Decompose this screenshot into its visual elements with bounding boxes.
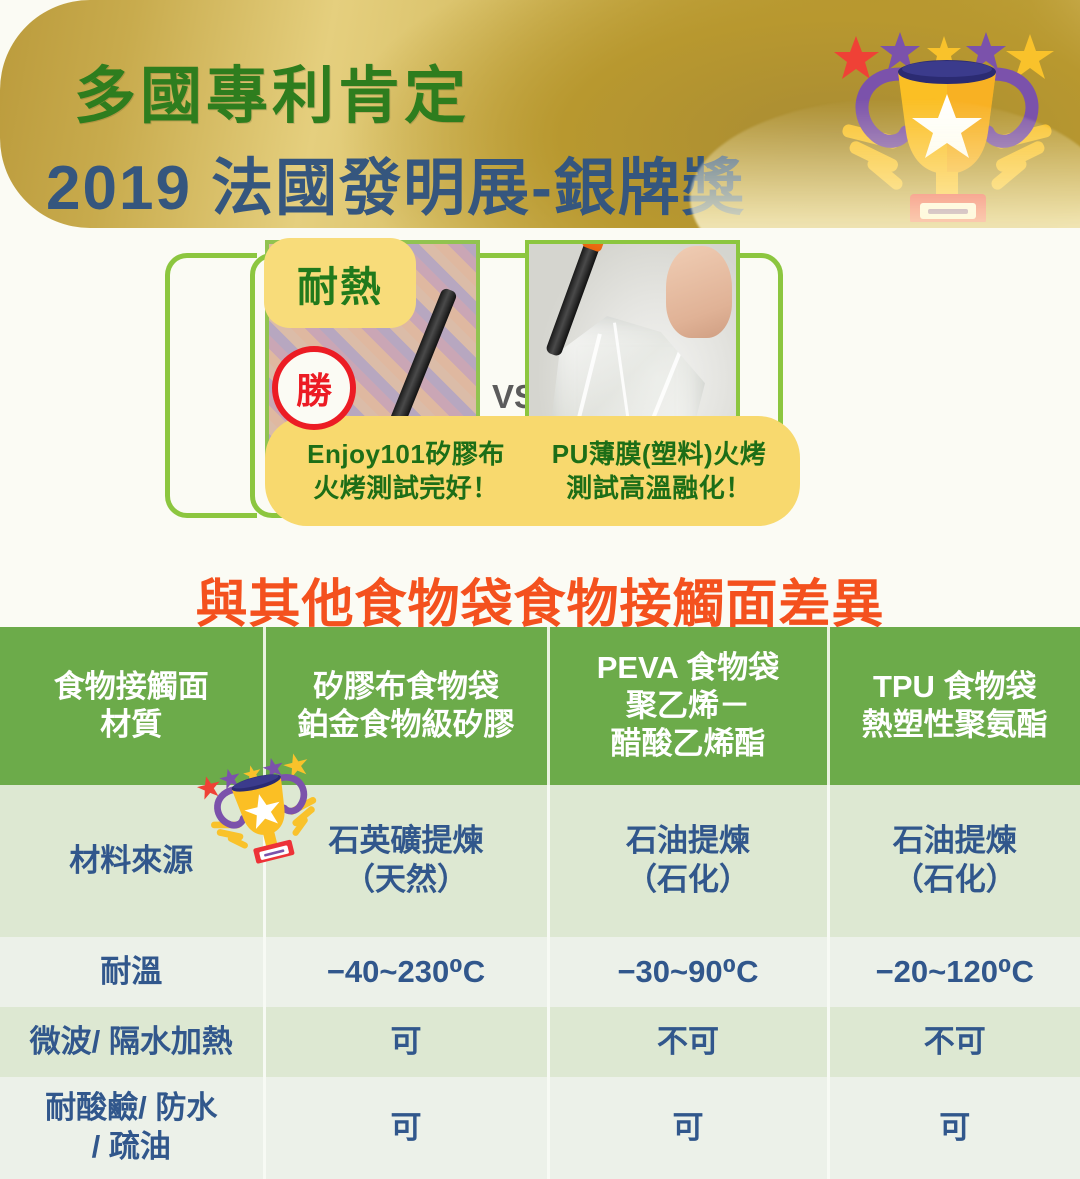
row-cell: −30~90⁰C [548, 937, 828, 1007]
section-title: 與其他食物袋食物接觸面差異 [0, 562, 1080, 637]
trophy-icon [834, 22, 1062, 222]
cell-line: −40~230⁰C [268, 953, 545, 992]
caption-right: PU薄膜(塑料)火烤 測試高溫融化！ [537, 437, 782, 506]
cell-line: 不可 [832, 1023, 1079, 1062]
table-row: 耐酸鹼/ 防水 / 疏油 可 可 可 [0, 1077, 1080, 1179]
winner-badge: 勝 [272, 346, 356, 430]
row-cell: 可 [264, 1077, 548, 1179]
header-line: PEVA 食物袋 [552, 649, 825, 687]
header-line: TPU 食物袋 [832, 668, 1079, 706]
heat-resistance-badge: 耐熱 [264, 238, 416, 328]
header-line: 食物接觸面 [2, 668, 261, 706]
table-header-row: 食物接觸面 材質 矽膠布食物袋 鉑金食物級矽膠 PEVA 食物袋 聚乙烯－ 醋酸… [0, 627, 1080, 785]
banner-title-line1: 多國專利肯定 [74, 45, 470, 135]
heat-comparison-section: VS. 耐熱 勝 Enjoy101矽膠布 火烤測試完好！ PU薄膜(塑料)火烤 … [0, 228, 1080, 556]
row-cell: 石油提煉 （石化） [548, 785, 828, 937]
cell-line: −30~90⁰C [552, 953, 825, 992]
row-label: 耐酸鹼/ 防水 / 疏油 [0, 1077, 264, 1179]
cell-line: 可 [832, 1109, 1079, 1148]
cell-line: 耐酸鹼/ 防水 [2, 1089, 261, 1128]
hand-graphic [666, 246, 732, 338]
cell-line: 可 [268, 1109, 545, 1148]
cell-line: 石油提煉 [552, 822, 825, 861]
row-cell: 不可 [828, 1007, 1080, 1077]
comparison-caption: Enjoy101矽膠布 火烤測試完好！ PU薄膜(塑料)火烤 測試高溫融化！ [265, 416, 800, 526]
caption-right-line2: 測試高溫融化！ [537, 471, 782, 505]
row-cell: 可 [828, 1077, 1080, 1179]
cell-line: 石油提煉 [832, 822, 1079, 861]
caption-left: Enjoy101矽膠布 火烤測試完好！ [284, 437, 529, 506]
cell-line: 耐溫 [2, 953, 261, 992]
cell-line: 可 [552, 1109, 825, 1148]
row-label: 耐溫 [0, 937, 264, 1007]
table-row: 耐溫 −40~230⁰C −30~90⁰C −20~120⁰C [0, 937, 1080, 1007]
table-header-cell-3: TPU 食物袋 熱塑性聚氨酯 [828, 627, 1080, 785]
header-line: 鉑金食物級矽膠 [268, 706, 545, 744]
decorative-frame-rail [165, 253, 257, 518]
row-label: 微波/ 隔水加熱 [0, 1007, 264, 1077]
cell-line: 微波/ 隔水加熱 [2, 1023, 261, 1062]
award-banner: 多國專利肯定 2019 法國發明展-銀牌獎 [0, 0, 1080, 228]
row-cell: 石油提煉 （石化） [828, 785, 1080, 937]
row-cell: 不可 [548, 1007, 828, 1077]
table-row: 材料來源 石英礦提煉 （天然） 石油提煉 （石化） 石油提煉 （石化） [0, 785, 1080, 937]
cell-line: （石化） [832, 861, 1079, 900]
caption-left-line2: 火烤測試完好！ [284, 471, 529, 505]
cell-line: −20~120⁰C [832, 953, 1079, 992]
cell-line: （石化） [552, 861, 825, 900]
header-line: 聚乙烯－ [552, 687, 825, 725]
row-cell: 可 [264, 1007, 548, 1077]
cell-line: （天然） [268, 861, 545, 900]
header-line: 熱塑性聚氨酯 [832, 706, 1079, 744]
row-cell: −40~230⁰C [264, 937, 548, 1007]
header-line: 材質 [2, 706, 261, 744]
row-cell: −20~120⁰C [828, 937, 1080, 1007]
cell-line: 可 [268, 1023, 545, 1062]
caption-right-line1: PU薄膜(塑料)火烤 [537, 437, 782, 471]
comparison-table: 食物接觸面 材質 矽膠布食物袋 鉑金食物級矽膠 PEVA 食物袋 聚乙烯－ 醋酸… [0, 627, 1080, 1179]
table-row: 微波/ 隔水加熱 可 不可 不可 [0, 1007, 1080, 1077]
table-header-cell-2: PEVA 食物袋 聚乙烯－ 醋酸乙烯酯 [548, 627, 828, 785]
row-cell: 可 [548, 1077, 828, 1179]
caption-left-line1: Enjoy101矽膠布 [284, 437, 529, 471]
cell-line: 不可 [552, 1023, 825, 1062]
header-line: 矽膠布食物袋 [268, 668, 545, 706]
cell-line: / 疏油 [2, 1128, 261, 1167]
header-line: 醋酸乙烯酯 [552, 725, 825, 763]
banner-title-line2: 2019 法國發明展-銀牌獎 [46, 137, 746, 227]
